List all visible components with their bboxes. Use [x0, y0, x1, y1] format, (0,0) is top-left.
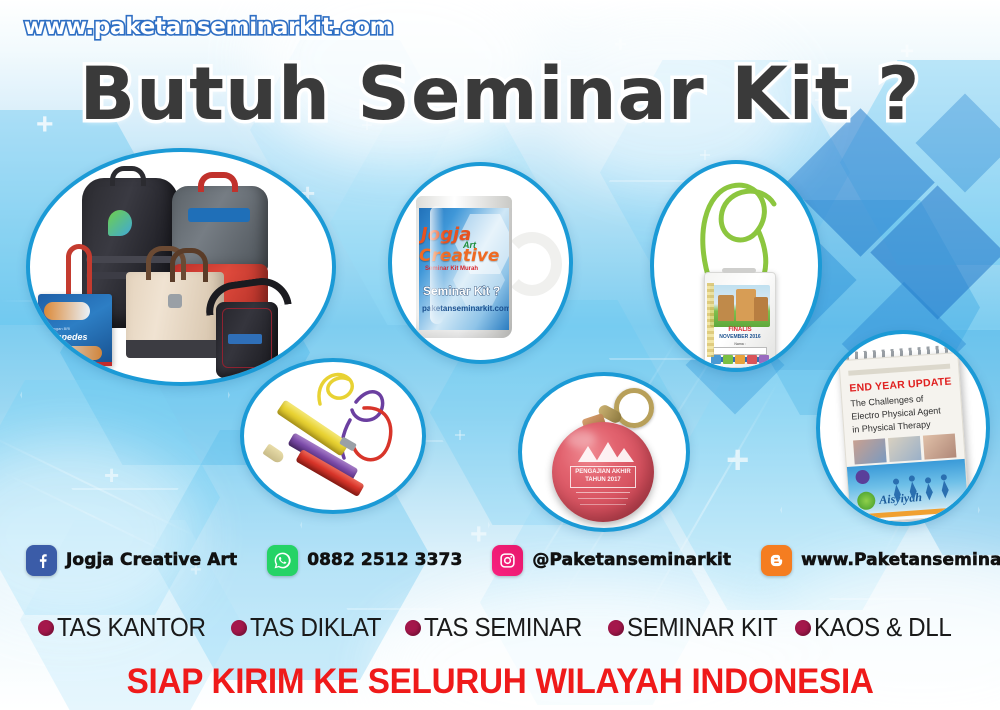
contact-whatsapp[interactable]: 0882 2512 3373: [267, 545, 462, 576]
bullet-icon: [231, 620, 247, 636]
product-photo-mug: Jogja Art Creative Seminar Kit Murah Sem…: [388, 162, 573, 364]
facebook-icon[interactable]: [26, 545, 57, 576]
bullet-icon: [38, 620, 54, 636]
category-label: TAS KANTOR: [57, 612, 206, 643]
whatsapp-icon[interactable]: [267, 545, 298, 576]
category-item: KAOS & DLL: [795, 612, 962, 643]
beige-tote-handle2: [170, 248, 208, 282]
product-photo-pens: [240, 358, 426, 514]
sling-bag-trim: [222, 308, 272, 368]
id-card-field-label: Nama :: [705, 342, 775, 346]
keychain-line1: PENGAJIAN AKHIR: [552, 469, 654, 475]
category-item: TAS SEMINAR: [405, 612, 594, 643]
category-item: TAS KANTOR: [38, 612, 217, 643]
contact-facebook[interactable]: Jogja Creative Art: [26, 545, 237, 576]
whatsapp-label: 0882 2512 3373: [307, 550, 462, 570]
delivery-tagline: SIAP KIRIM KE SELURUH WILAYAH INDONESIA: [0, 662, 1000, 702]
page-title: Butuh Seminar Kit ?: [0, 52, 1000, 137]
document-folder-icon: Tabungan BRI Simpedes: [38, 294, 112, 366]
notebook-line3: in Physical Therapy: [852, 419, 931, 434]
delivery-tagline-text: SIAP KIRIM KE SELURUH WILAYAH INDONESIA: [127, 662, 874, 702]
product-category-list: TAS KANTOR TAS DIKLAT TAS SEMINAR SEMINA…: [0, 612, 1000, 643]
keychain-line2: TAHUN 2017: [552, 477, 654, 483]
bullet-icon: [608, 620, 624, 636]
instagram-icon[interactable]: [492, 545, 523, 576]
product-photo-bags: Tabungan BRI Simpedes: [26, 148, 336, 386]
facebook-label: Jogja Creative Art: [66, 550, 237, 570]
beige-tote-base: [126, 340, 224, 358]
contact-row: Jogja Creative Art 0882 2512 3373 @Paket…: [0, 536, 1000, 584]
instagram-label: @Paketanseminarkit: [532, 550, 731, 570]
id-card-slot: [722, 268, 756, 273]
category-label: TAS SEMINAR: [424, 612, 582, 643]
bullet-icon: [795, 620, 811, 636]
contact-blogger[interactable]: www.Paketanseminarkit.Com: [761, 545, 1000, 576]
bullet-icon: [405, 620, 421, 636]
blogger-label: www.Paketanseminarkit.Com: [801, 550, 1000, 570]
id-card-holder-icon: FINALIS NOVEMBER 2016 Nama :: [704, 272, 776, 368]
product-photo-keychain: PENGAJIAN AKHIR TAHUN 2017: [518, 372, 690, 532]
id-card-title: FINALIS: [705, 327, 775, 333]
notebook-page-icon: END YEAR UPDATE The Challenges of Electr…: [838, 352, 969, 524]
product-photo-notebook: END YEAR UPDATE The Challenges of Electr…: [816, 330, 990, 526]
category-label: KAOS & DLL: [814, 612, 951, 643]
category-label: SEMINAR KIT: [627, 612, 777, 643]
blogger-icon[interactable]: [761, 545, 792, 576]
category-label: TAS DIKLAT: [250, 612, 381, 643]
black-backpack-handle: [110, 166, 146, 186]
product-photo-idcard: FINALIS NOVEMBER 2016 Nama :: [650, 160, 822, 372]
black-backpack-logo: [108, 210, 132, 236]
contact-instagram[interactable]: @Paketanseminarkit: [492, 545, 731, 576]
site-url: www.paketanseminarkit.com: [24, 14, 393, 40]
folder-main-label: Simpedes: [45, 332, 88, 342]
notebook-title: END YEAR UPDATE: [849, 376, 952, 395]
category-item: SEMINAR KIT: [608, 612, 789, 643]
folder-top-label: Tabungan BRI: [45, 326, 70, 331]
category-item: TAS DIKLAT: [231, 612, 391, 643]
beige-tote-clasp: [168, 294, 182, 308]
promo-banner: www.paketanseminarkit.com Butuh Seminar …: [0, 0, 1000, 710]
keychain-disc-icon: PENGAJIAN AKHIR TAHUN 2017: [552, 422, 654, 522]
red-backpack-handle: [198, 172, 238, 192]
id-card-subtitle: NOVEMBER 2016: [705, 334, 775, 340]
red-backpack-label: [188, 208, 250, 222]
